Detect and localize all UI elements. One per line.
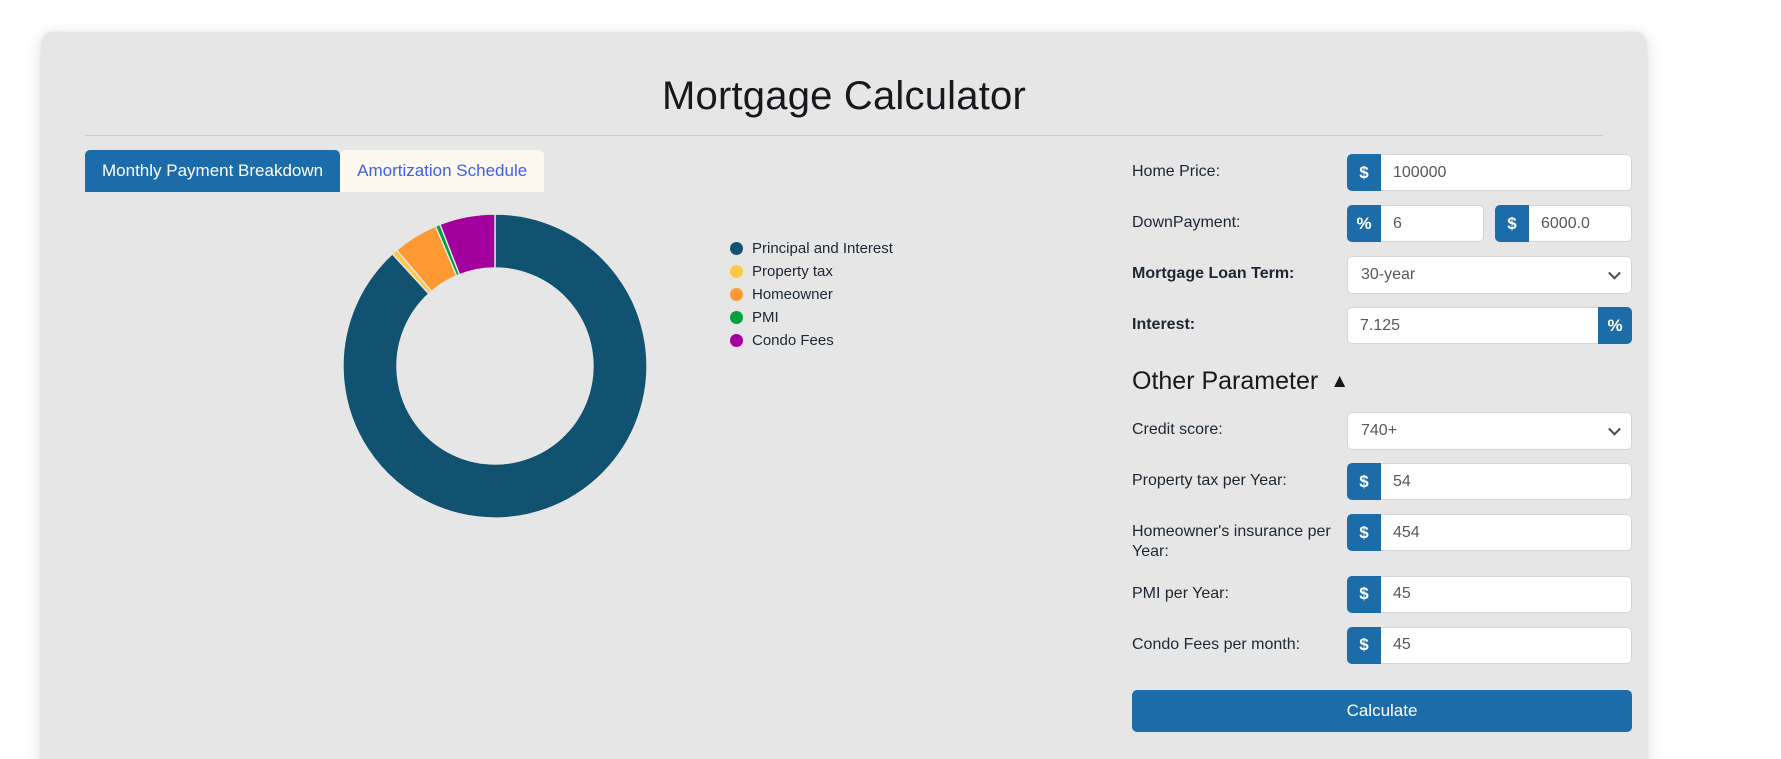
tab-bar: Monthly Payment Breakdown Amortization S… xyxy=(85,150,985,192)
form-row-condo-fees: Condo Fees per month: $ 45 xyxy=(1132,627,1632,665)
tab-monthly-payment-breakdown[interactable]: Monthly Payment Breakdown xyxy=(85,150,340,192)
down-payment-split: % 6 $ 6000.0 xyxy=(1347,205,1632,242)
down-payment-label: DownPayment: xyxy=(1132,205,1347,233)
dollar-addon-icon: $ xyxy=(1347,576,1381,613)
parameters-form: Home Price: $ 100000 DownPayment: % 6 xyxy=(1132,154,1632,732)
donut-svg xyxy=(335,206,655,526)
donut-slices xyxy=(343,214,647,518)
down-payment-dollar-group: $ 6000.0 xyxy=(1495,205,1632,242)
triangle-up-icon: ▲ xyxy=(1330,372,1349,391)
pmi-control: $ 45 xyxy=(1347,576,1632,613)
legend-label: Principal and Interest xyxy=(752,240,893,257)
legend-label: Homeowner xyxy=(752,286,833,303)
home-insurance-label: Homeowner's insurance per Year: xyxy=(1132,514,1347,563)
home-insurance-control: $ 454 xyxy=(1347,514,1632,551)
interest-label: Interest: xyxy=(1132,307,1347,335)
condo-fees-label: Condo Fees per month: xyxy=(1132,627,1347,655)
chevron-down-icon xyxy=(1608,267,1621,280)
home-price-control: $ 100000 xyxy=(1347,154,1632,191)
legend-item-principal-and-interest: Principal and Interest xyxy=(730,237,893,260)
form-row-down-payment: DownPayment: % 6 $ 6000.0 xyxy=(1132,205,1632,243)
legend-item-condo-fees: Condo Fees xyxy=(730,329,893,352)
form-row-home-insurance: Homeowner's insurance per Year: $ 454 xyxy=(1132,514,1632,563)
legend-label: Condo Fees xyxy=(752,332,834,349)
credit-score-label: Credit score: xyxy=(1132,412,1347,440)
percent-addon-icon: % xyxy=(1598,307,1632,344)
property-tax-control: $ 54 xyxy=(1347,463,1632,500)
interest-control: 7.125 % xyxy=(1347,307,1632,344)
home-insurance-input[interactable]: 454 xyxy=(1381,514,1632,551)
dollar-addon-icon: $ xyxy=(1347,627,1381,664)
calculate-row: Calculate xyxy=(1132,678,1632,732)
dollar-addon-icon: $ xyxy=(1347,463,1381,500)
payment-breakdown-donut-chart xyxy=(335,206,655,526)
home-price-label: Home Price: xyxy=(1132,154,1347,182)
property-tax-label: Property tax per Year: xyxy=(1132,463,1347,491)
other-parameter-toggle[interactable]: Other Parameter ▲ xyxy=(1132,367,1632,396)
form-row-loan-term: Mortgage Loan Term: 30-year xyxy=(1132,256,1632,294)
down-payment-percent-group: % 6 xyxy=(1347,205,1484,242)
chevron-down-icon xyxy=(1608,423,1621,436)
legend-label: PMI xyxy=(752,309,779,326)
other-parameter-label: Other Parameter xyxy=(1132,367,1318,396)
property-tax-input[interactable]: 54 xyxy=(1381,463,1632,500)
dollar-addon-icon: $ xyxy=(1495,205,1529,242)
legend-color-swatch-icon xyxy=(730,242,743,255)
credit-score-selected-value: 740+ xyxy=(1361,422,1397,440)
interest-input[interactable]: 7.125 xyxy=(1347,307,1598,344)
loan-term-select[interactable]: 30-year xyxy=(1347,256,1632,294)
chart-legend: Principal and Interest Property tax Home… xyxy=(730,237,893,352)
condo-fees-input[interactable]: 45 xyxy=(1381,627,1632,664)
condo-fees-control: $ 45 xyxy=(1347,627,1632,664)
loan-term-label: Mortgage Loan Term: xyxy=(1132,256,1347,284)
tab-label: Monthly Payment Breakdown xyxy=(102,161,323,181)
form-row-home-price: Home Price: $ 100000 xyxy=(1132,154,1632,192)
legend-color-swatch-icon xyxy=(730,311,743,324)
loan-term-control: 30-year xyxy=(1347,256,1632,294)
credit-score-select[interactable]: 740+ xyxy=(1347,412,1632,450)
dollar-addon-icon: $ xyxy=(1347,154,1381,191)
home-price-input[interactable]: 100000 xyxy=(1381,154,1632,191)
percent-addon-icon: % xyxy=(1347,205,1381,242)
legend-color-swatch-icon xyxy=(730,334,743,347)
pmi-input[interactable]: 45 xyxy=(1381,576,1632,613)
legend-label: Property tax xyxy=(752,263,833,280)
legend-item-property-tax: Property tax xyxy=(730,260,893,283)
mortgage-calculator-page: Mortgage Calculator Monthly Payment Brea… xyxy=(0,0,1781,759)
form-row-interest: Interest: 7.125 % xyxy=(1132,307,1632,345)
form-row-credit-score: Credit score: 740+ xyxy=(1132,412,1632,450)
calculator-card: Mortgage Calculator Monthly Payment Brea… xyxy=(42,32,1646,759)
left-column: Monthly Payment Breakdown Amortization S… xyxy=(85,150,985,594)
chart-area: Principal and Interest Property tax Home… xyxy=(85,234,985,594)
legend-item-homeowner: Homeowner xyxy=(730,283,893,306)
tab-amortization-schedule[interactable]: Amortization Schedule xyxy=(340,150,544,192)
credit-score-control: 740+ xyxy=(1347,412,1632,450)
legend-color-swatch-icon xyxy=(730,288,743,301)
form-row-property-tax: Property tax per Year: $ 54 xyxy=(1132,463,1632,501)
calculate-button[interactable]: Calculate xyxy=(1132,690,1632,732)
title-divider xyxy=(85,135,1603,136)
form-row-pmi: PMI per Year: $ 45 xyxy=(1132,576,1632,614)
down-payment-dollar-input[interactable]: 6000.0 xyxy=(1529,205,1632,242)
dollar-addon-icon: $ xyxy=(1347,514,1381,551)
legend-item-pmi: PMI xyxy=(730,306,893,329)
legend-color-swatch-icon xyxy=(730,265,743,278)
down-payment-percent-input[interactable]: 6 xyxy=(1381,205,1484,242)
tab-label: Amortization Schedule xyxy=(357,161,527,181)
down-payment-control: % 6 $ 6000.0 xyxy=(1347,205,1632,242)
loan-term-selected-value: 30-year xyxy=(1361,266,1415,284)
page-title: Mortgage Calculator xyxy=(42,32,1646,119)
pmi-label: PMI per Year: xyxy=(1132,576,1347,604)
